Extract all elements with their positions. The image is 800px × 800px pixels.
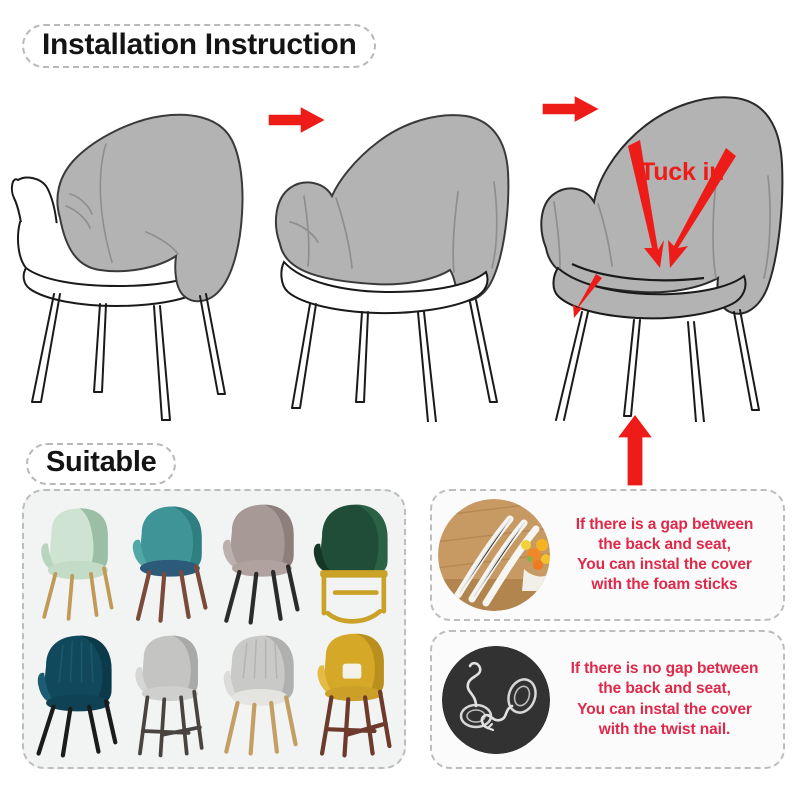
nail-tip-line-3: You can instal the cover (552, 700, 777, 720)
foam-sticks-tip-panel: If there is a gap between the back and s… (430, 489, 785, 621)
suitable-label: Suitable (46, 446, 156, 479)
chair-thumb-teal-armchair (122, 499, 214, 630)
suitable-chairs-panel (22, 489, 406, 769)
suitable-title: Suitable (26, 443, 176, 485)
nail-tip-line-4: with the twist nail. (552, 720, 777, 740)
foam-tip-line-2: the back and seat, (552, 535, 777, 555)
step-2-illustration (258, 72, 530, 422)
installation-instruction-label: Installation Instruction (42, 28, 356, 62)
foam-sticks-tip-text: If there is a gap between the back and s… (550, 515, 783, 596)
step-1-illustration (0, 72, 268, 422)
chair-thumb-mustard-yellow-barstool (306, 630, 398, 761)
foam-tip-line-1: If there is a gap between (552, 515, 777, 535)
instruction-sheet: Installation Instruction (0, 0, 800, 800)
installation-instruction-title: Installation Instruction (22, 24, 376, 68)
nail-tip-line-2: the back and seat, (552, 679, 777, 699)
twist-nail-tip-panel: If there is no gap between the back and … (430, 630, 785, 769)
tuck-in-label: Tuck in (640, 158, 724, 187)
chair-thumb-taupe-gray-armchair (214, 499, 306, 630)
chair-thumb-mint-green-armchair (30, 499, 122, 630)
nail-tip-line-1: If there is no gap between (552, 659, 777, 679)
chair-thumb-dark-green-gold-armchair (306, 499, 398, 630)
twist-nail-tip-text: If there is no gap between the back and … (550, 659, 783, 740)
chair-thumb-gray-wood-armchair (214, 630, 306, 761)
foam-sticks-photo (438, 499, 550, 611)
chair-thumb-petrol-blue-velvet-chair (30, 630, 122, 761)
twist-nails-photo (442, 646, 550, 754)
chair-thumb-light-gray-barstool (122, 630, 214, 761)
step-3-illustration (528, 72, 800, 422)
foam-tip-line-3: You can instal the cover (552, 555, 777, 575)
foam-tip-up-arrow-icon (613, 412, 657, 488)
chair-thumbnail-grid (30, 499, 398, 761)
foam-tip-line-4: with the foam sticks (552, 575, 777, 595)
